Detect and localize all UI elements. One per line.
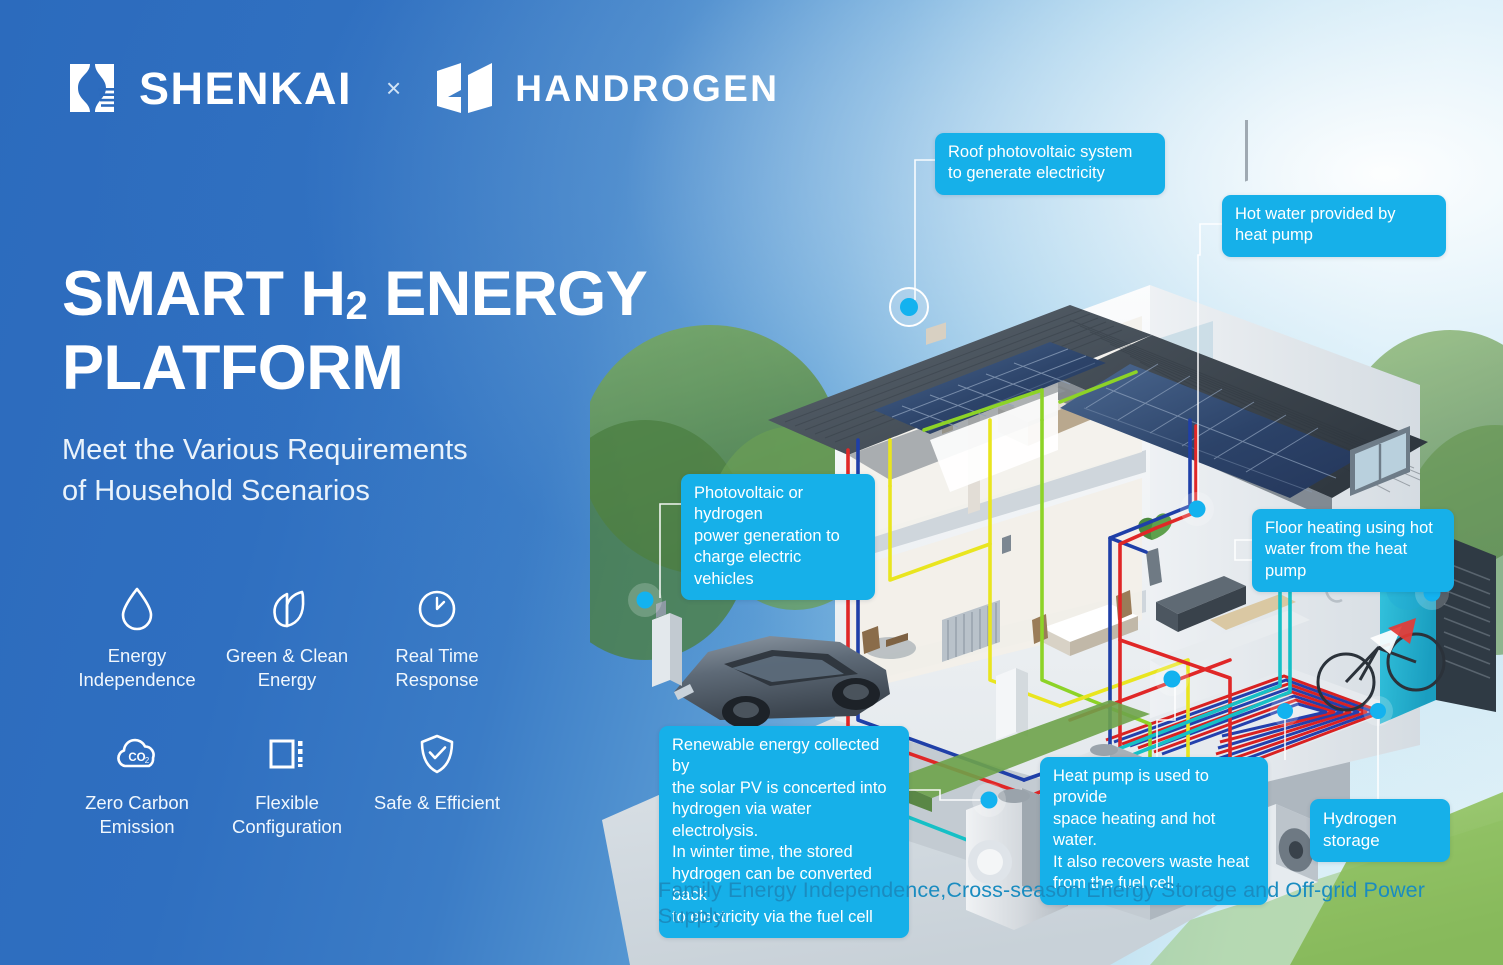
brand-bar: SHENKAI × HANDROGEN (62, 58, 779, 118)
feature-label: Flexible Configuration (212, 791, 362, 840)
callout-ev-charging[interactable]: Photovoltaic or hydrogen power generatio… (681, 474, 875, 600)
brand-separator: × (382, 73, 405, 104)
co2-cloud-icon: CO 2 (62, 723, 212, 785)
modular-blocks-icon (212, 723, 362, 785)
page-title-line2: PLATFORM (62, 333, 403, 403)
callout-hot-water[interactable]: Hot water provided by heat pump (1222, 195, 1446, 257)
bottom-caption: Family Energy Independence,Cross-season … (658, 878, 1468, 930)
shenkai-logo: SHENKAI (62, 58, 352, 118)
feature-label: Energy Independence (62, 644, 212, 693)
handrogen-wordmark: HANDROGEN (515, 70, 779, 107)
feature-label: Zero Carbon Emission (62, 791, 212, 840)
feature-flexible-configuration: Flexible Configuration (212, 723, 362, 840)
handrogen-logo: HANDROGEN (435, 61, 779, 115)
feature-green-clean-energy: Green & Clean Energy (212, 578, 362, 693)
infographic-poster: SHENKAI × HANDROGEN SMART H2 ENERGY PLAT… (0, 0, 1503, 965)
feature-safe-efficient: Safe & Efficient (362, 723, 512, 840)
feature-energy-independence: Energy Independence (62, 578, 212, 693)
page-subtitle-line1: Meet the Various Requirements (62, 430, 662, 471)
page-subtitle-line2: of Household Scenarios (62, 471, 662, 512)
water-drop-icon (62, 578, 212, 640)
page-title-line1-a: SMART H (62, 259, 345, 329)
feature-label: Green & Clean Energy (212, 644, 362, 693)
feature-label: Real Time Response (362, 644, 512, 693)
clock-icon (362, 578, 512, 640)
feature-row-2: CO 2 Zero Carbon Emission (62, 723, 532, 840)
feature-label: Safe & Efficient (362, 791, 512, 815)
page-subtitle: Meet the Various Requirements of Househo… (62, 430, 662, 512)
svg-text:CO: CO (128, 752, 145, 764)
shenkai-wordmark: SHENKAI (139, 66, 352, 111)
shield-check-icon (362, 723, 512, 785)
feature-real-time-response: Real Time Response (362, 578, 512, 693)
svg-text:2: 2 (145, 756, 150, 765)
callout-roof-pv[interactable]: Roof photovoltaic system to generate ele… (935, 133, 1165, 195)
callout-floor-heating[interactable]: Floor heating using hot water from the h… (1252, 509, 1454, 592)
leaf-icon (212, 578, 362, 640)
feature-row-1: Energy Independence Green & Clean Energy (62, 578, 532, 693)
shenkai-logo-icon (62, 58, 122, 118)
feature-zero-carbon-emission: CO 2 Zero Carbon Emission (62, 723, 212, 840)
feature-list: Energy Independence Green & Clean Energy (62, 578, 532, 840)
callout-hydrogen-storage[interactable]: Hydrogen storage (1310, 799, 1450, 862)
handrogen-logo-icon (435, 61, 497, 115)
page-title-subscript: 2 (345, 284, 367, 328)
